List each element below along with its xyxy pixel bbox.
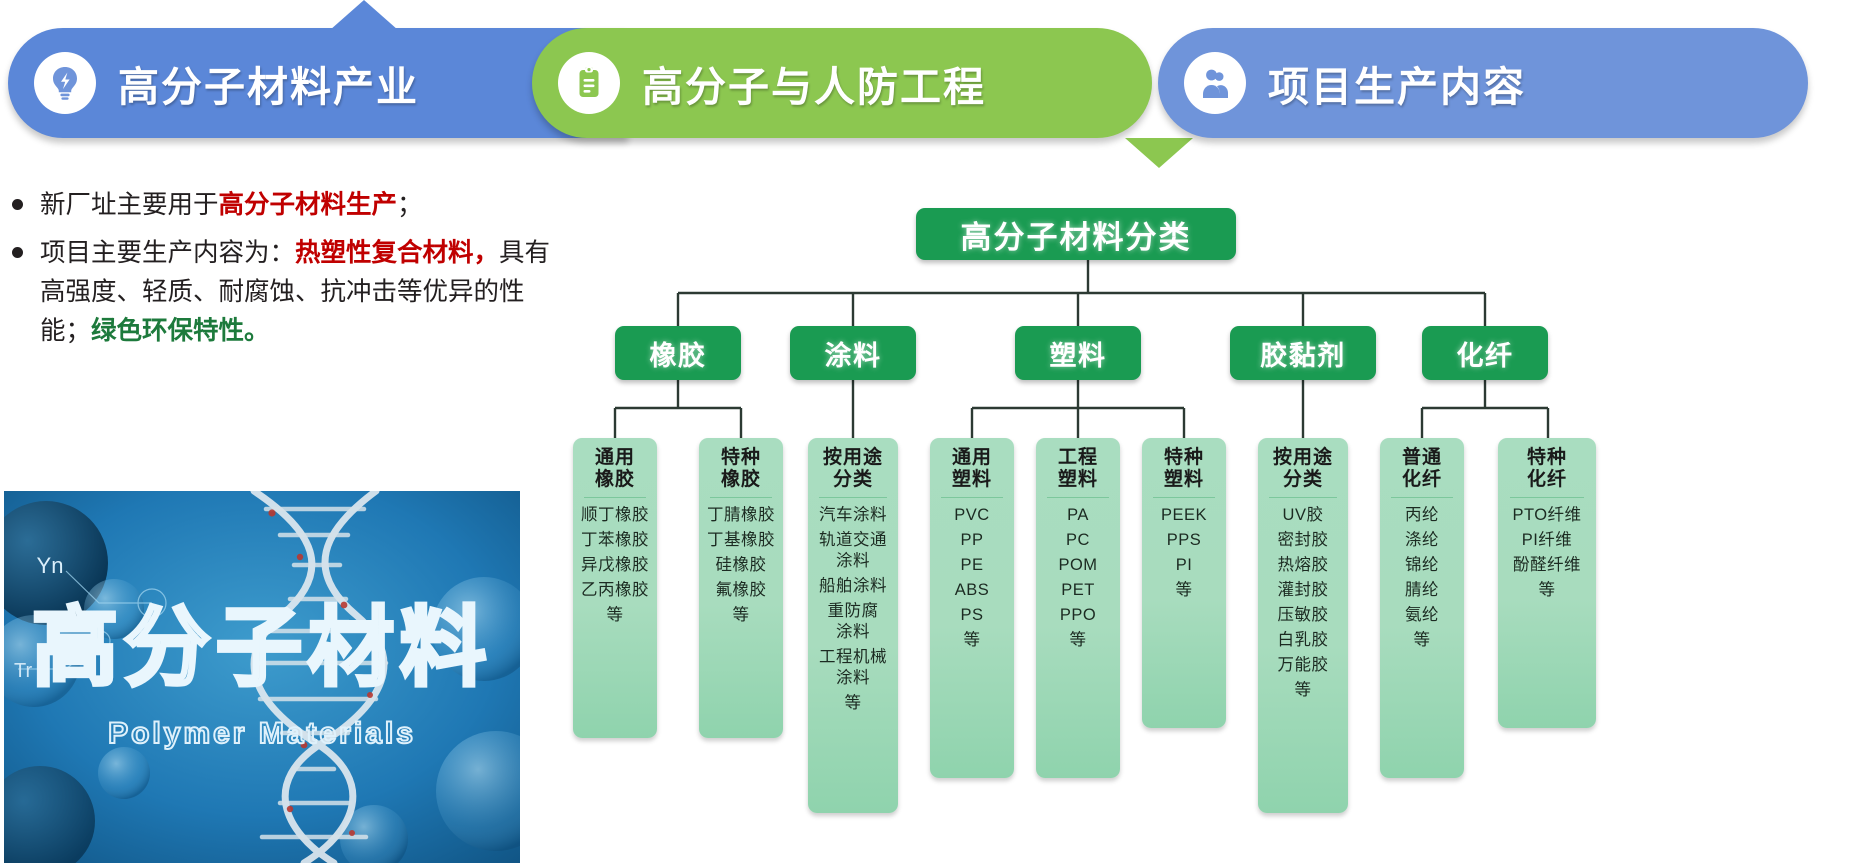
leaf-title: 工程 塑料 [1058,447,1098,491]
leaf-divider [1153,497,1215,498]
bullet-2-part-2: 热塑性复合材料， [295,239,499,267]
leaf-item: PC [1066,530,1090,551]
leaf-item: 锦纶 [1405,555,1439,576]
bullet-2-part-1: 项目主要生产内容为： [40,239,295,267]
polymer-classification-tree: 高分子材料分类 橡胶 涂料 塑料 胶黏剂 化纤 通用 橡胶 顺丁橡胶 丁苯橡胶 … [560,180,1858,863]
leaf-item: 丁基橡胶 [707,530,775,551]
leaf-title: 按用途 分类 [823,447,883,491]
polymer-materials-photo: 高分子材料 Polymer Materials Yn Tr [4,491,520,863]
leaf-item: 船舶涂料 [819,576,887,597]
leaf-divider [819,497,886,498]
bullet-dot-icon [12,199,23,210]
segment-1-pointer-up [330,0,398,30]
bullet-1-part-1: 新厂址主要用于 [40,191,219,219]
leaf-divider [1047,497,1109,498]
leaf-divider [941,497,1003,498]
leaf-items: UV胶 密封胶 热熔胶 灌封胶 压敏胶 白乳胶 万能胶 等 [1278,505,1329,705]
leaf-item: 异戊橡胶 [581,555,649,576]
header-segment-2[interactable]: 高分子与人防工程 [532,28,1152,138]
leaf-item: 涤纶 [1405,530,1439,551]
leaf-item: PS [960,605,983,626]
leaf-item: 等 [1176,580,1193,601]
leaf-item: 万能胶 [1278,655,1329,676]
bullet-list: 新厂址主要用于高分子材料生产； 项目主要生产内容为：热塑性复合材料，具有高强度、… [12,186,560,360]
leaf-items: PEEK PPS PI 等 [1161,505,1207,605]
leaf-items: 汽车涂料 轨道交通 涂料 船舶涂料 重防腐 涂料 工程机械 涂料 等 [819,505,887,718]
tree-leaf-engineering-plastic[interactable]: 工程 塑料 PA PC POM PET PPO 等 [1036,438,1120,778]
leaf-item: 等 [964,630,981,651]
leaf-item: PE [960,555,983,576]
tree-branch-rubber[interactable]: 橡胶 [615,326,741,380]
leaf-item: 乙丙橡胶 [581,580,649,601]
leaf-item: 等 [1414,630,1431,651]
leaf-title: 通用 塑料 [952,447,992,491]
tree-leaf-general-rubber[interactable]: 通用 橡胶 顺丁橡胶 丁苯橡胶 异戊橡胶 乙丙橡胶 等 [573,438,657,738]
tree-branch-adhesive[interactable]: 胶黏剂 [1230,326,1376,380]
photo-tag-tr: Tr [14,660,32,682]
bullet-item-1-text: 新厂址主要用于高分子材料生产； [40,186,423,225]
leaf-title: 特种 化纤 [1527,447,1567,491]
photo-subtitle: Polymer Materials [108,717,416,750]
leaf-items: PVC PP PE ABS PS 等 [954,505,989,655]
leaf-item: PET [1061,580,1095,601]
leaf-item: PI纤维 [1522,530,1573,551]
leaf-divider [584,497,646,498]
leaf-items: PA PC POM PET PPO 等 [1058,505,1097,655]
leaf-item: 工程机械 涂料 [819,647,887,689]
leaf-item: 等 [733,605,750,626]
header-segment-3-label: 项目生产内容 [1268,53,1526,113]
bullet-item-2-text: 项目主要生产内容为：热塑性复合材料，具有高强度、轻质、耐腐蚀、抗冲击等优异的性能… [40,234,560,351]
tree-leaf-general-fiber[interactable]: 普通 化纤 丙纶 涤纶 锦纶 腈纶 氨纶 等 [1380,438,1464,778]
leaf-divider [1391,497,1453,498]
leaf-title: 通用 橡胶 [595,447,635,491]
leaf-item: 丁腈橡胶 [707,505,775,526]
leaf-item: 轨道交通 涂料 [819,530,887,572]
slide-root: 高分子材料产业 高分子与人防工程 [0,0,1858,863]
leaf-items: PTO纤维 PI纤维 酚醛纤维 等 [1512,505,1581,605]
leaf-item: PPO [1060,605,1096,626]
leaf-item: 等 [1539,580,1556,601]
leaf-title: 特种 橡胶 [721,447,761,491]
tree-branch-coating[interactable]: 涂料 [790,326,916,380]
leaf-item: 白乳胶 [1278,630,1329,651]
leaf-divider [1510,497,1584,498]
people-icon [1184,52,1246,114]
lightbulb-brain-icon [34,52,96,114]
tree-leaf-special-fiber[interactable]: 特种 化纤 PTO纤维 PI纤维 酚醛纤维 等 [1498,438,1596,728]
leaf-item: UV胶 [1283,505,1324,526]
photo-tag-yn: Yn [37,553,64,578]
leaf-item: POM [1058,555,1097,576]
segment-2-pointer-down [1125,138,1193,168]
leaf-item: 热熔胶 [1278,555,1329,576]
leaf-item: 丁苯橡胶 [581,530,649,551]
leaf-item: 丙纶 [1405,505,1439,526]
leaf-item: 等 [607,605,624,626]
leaf-item: 等 [1070,630,1087,651]
header-segment-1-label: 高分子材料产业 [118,53,419,113]
leaf-item: ABS [955,580,990,601]
tree-branch-plastic[interactable]: 塑料 [1015,326,1141,380]
tree-branch-fiber[interactable]: 化纤 [1422,326,1548,380]
leaf-item: PVC [954,505,989,526]
leaf-item: 腈纶 [1405,580,1439,601]
leaf-title: 按用途 分类 [1273,447,1333,491]
tree-leaf-coating-by-use[interactable]: 按用途 分类 汽车涂料 轨道交通 涂料 船舶涂料 重防腐 涂料 工程机械 涂料 … [808,438,898,813]
leaf-items: 丁腈橡胶 丁基橡胶 硅橡胶 氟橡胶 等 [707,505,775,630]
leaf-item: PP [960,530,983,551]
leaf-item: PI [1176,555,1193,576]
leaf-item: PTO纤维 [1512,505,1581,526]
leaf-item: 密封胶 [1278,530,1329,551]
leaf-item: 等 [845,693,862,714]
leaf-divider [1269,497,1336,498]
leaf-item: 氨纶 [1405,605,1439,626]
leaf-item: 顺丁橡胶 [581,505,649,526]
bullet-item-1: 新厂址主要用于高分子材料生产； [12,186,560,225]
leaf-item: 等 [1295,680,1312,701]
leaf-item: 汽车涂料 [819,505,887,526]
header-segment-2-label: 高分子与人防工程 [642,53,986,113]
bullet-1-part-3: ； [397,191,423,219]
leaf-divider [710,497,772,498]
bullet-1-part-2: 高分子材料生产 [219,191,398,219]
leaf-item: 重防腐 涂料 [828,601,879,643]
leaf-title: 特种 塑料 [1164,447,1204,491]
tree-leaf-special-rubber[interactable]: 特种 橡胶 丁腈橡胶 丁基橡胶 硅橡胶 氟橡胶 等 [699,438,783,738]
photo-title: 高分子材料 [32,600,492,696]
leaf-item: 硅橡胶 [716,555,767,576]
leaf-title: 普通 化纤 [1402,447,1442,491]
leaf-item: PEEK [1161,505,1207,526]
leaf-items: 丙纶 涤纶 锦纶 腈纶 氨纶 等 [1405,505,1439,655]
leaf-items: 顺丁橡胶 丁苯橡胶 异戊橡胶 乙丙橡胶 等 [581,505,649,630]
tree-leaf-general-plastic[interactable]: 通用 塑料 PVC PP PE ABS PS 等 [930,438,1014,778]
bullet-dot-icon [12,247,23,258]
tree-leaf-adhesive-by-use[interactable]: 按用途 分类 UV胶 密封胶 热熔胶 灌封胶 压敏胶 白乳胶 万能胶 等 [1258,438,1348,813]
leaf-item: 压敏胶 [1278,605,1329,626]
leaf-item: PA [1067,505,1089,526]
header-ribbon: 高分子材料产业 高分子与人防工程 [8,28,1808,138]
tree-leaf-special-plastic[interactable]: 特种 塑料 PEEK PPS PI 等 [1142,438,1226,728]
bullet-2-part-4: 绿色环保特性。 [91,317,270,345]
header-segment-3[interactable]: 项目生产内容 [1158,28,1808,138]
leaf-item: 氟橡胶 [716,580,767,601]
clipboard-icon [558,52,620,114]
bullet-item-2: 项目主要生产内容为：热塑性复合材料，具有高强度、轻质、耐腐蚀、抗冲击等优异的性能… [12,234,560,351]
leaf-item: 酚醛纤维 [1513,555,1581,576]
leaf-item: PPS [1167,530,1202,551]
leaf-item: 灌封胶 [1278,580,1329,601]
tree-root-node[interactable]: 高分子材料分类 [916,208,1236,260]
